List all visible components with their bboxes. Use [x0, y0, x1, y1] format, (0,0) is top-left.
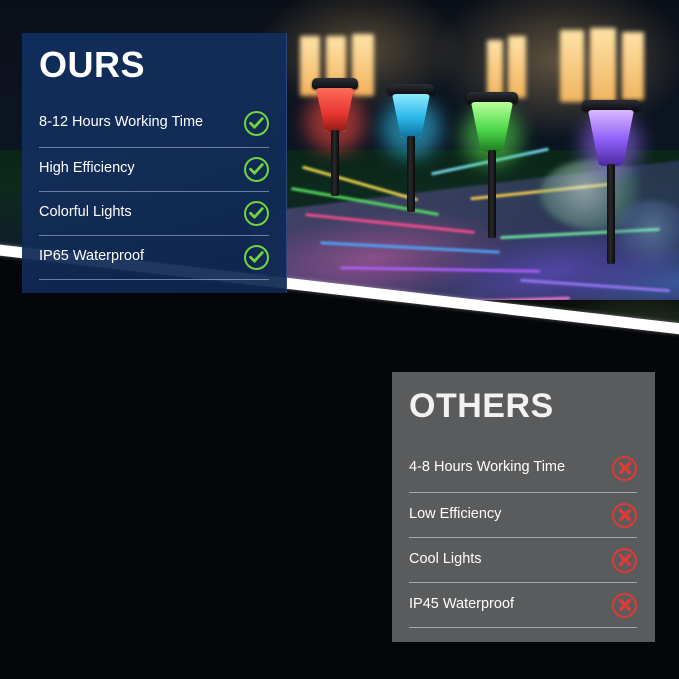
- x-circle-icon: [612, 503, 637, 528]
- others-feature-label: Low Efficiency: [409, 501, 501, 530]
- others-feature-row: IP45 Waterproof: [409, 583, 637, 628]
- others-feature-label: 4-8 Hours Working Time: [409, 454, 565, 483]
- check-circle-icon: [244, 201, 269, 226]
- ours-feature-row: Colorful Lights: [39, 192, 269, 236]
- lamp-solar-cap: [388, 84, 434, 95]
- lamp-stake: [607, 164, 615, 264]
- check-circle-icon: [244, 245, 269, 270]
- others-panel: OTHERS 4-8 Hours Working Time Low Effici…: [392, 372, 655, 642]
- others-feature-label: IP45 Waterproof: [409, 591, 514, 620]
- others-feature-row: 4-8 Hours Working Time: [409, 444, 637, 493]
- house-window: [622, 32, 644, 100]
- ours-title: OURS: [39, 47, 145, 83]
- lamp-stake: [331, 130, 339, 196]
- x-circle-icon: [612, 593, 637, 618]
- ours-feature-row: IP65 Waterproof: [39, 236, 269, 280]
- lamp-stake: [488, 150, 496, 238]
- others-feature-row: Cool Lights: [409, 538, 637, 583]
- ours-panel: OURS 8-12 Hours Working Time High Effici…: [22, 33, 287, 293]
- lamp-solar-cap: [582, 100, 640, 111]
- others-feature-row: Low Efficiency: [409, 493, 637, 538]
- house-window: [487, 40, 503, 98]
- solar-lamp-red: [312, 78, 358, 198]
- others-title: OTHERS: [409, 389, 554, 423]
- x-circle-icon: [612, 456, 637, 481]
- house-window: [560, 30, 584, 102]
- ours-feature-list: 8-12 Hours Working Time High Efficiency …: [39, 99, 269, 280]
- ours-feature-row: 8-12 Hours Working Time: [39, 99, 269, 148]
- others-feature-list: 4-8 Hours Working Time Low Efficiency Co…: [409, 444, 637, 628]
- ours-feature-label: Colorful Lights: [39, 199, 132, 228]
- house-window: [508, 36, 526, 98]
- x-circle-icon: [612, 548, 637, 573]
- ours-feature-label: IP65 Waterproof: [39, 243, 144, 272]
- check-circle-icon: [244, 157, 269, 182]
- solar-lamp-cyan: [388, 84, 434, 214]
- others-feature-label: Cool Lights: [409, 546, 482, 575]
- lamp-solar-cap: [312, 78, 358, 89]
- solar-lamp-purple: [584, 100, 638, 270]
- ours-feature-row: High Efficiency: [39, 148, 269, 192]
- lamp-solar-cap: [466, 92, 518, 103]
- check-circle-icon: [244, 111, 269, 136]
- solar-lamp-green: [467, 92, 517, 240]
- ours-feature-label: 8-12 Hours Working Time: [39, 109, 203, 138]
- lamp-stake: [407, 136, 415, 212]
- comparison-infographic: OURS 8-12 Hours Working Time High Effici…: [0, 0, 679, 679]
- ours-feature-label: High Efficiency: [39, 155, 135, 184]
- house-window: [590, 28, 616, 102]
